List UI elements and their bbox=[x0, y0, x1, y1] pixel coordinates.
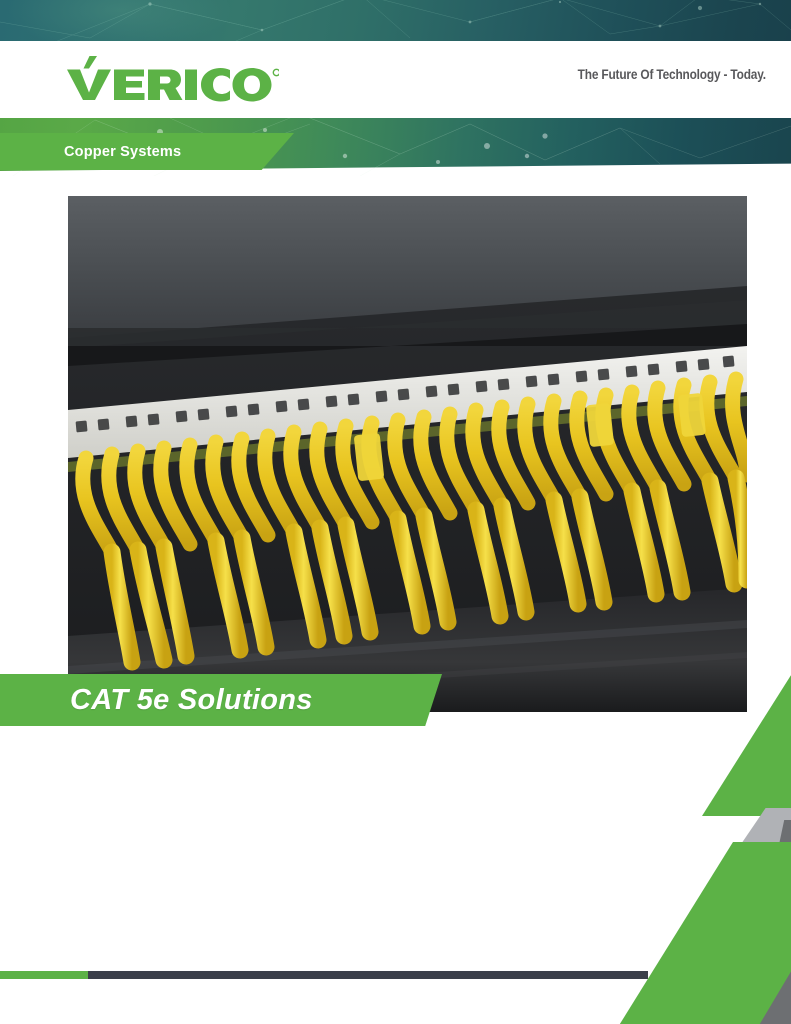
top-gradient-band bbox=[0, 0, 791, 41]
vericom-logo[interactable] bbox=[64, 55, 279, 103]
network-pattern-icon bbox=[0, 0, 791, 41]
footer-rule-dark bbox=[88, 971, 648, 979]
brand-tagline: The Future Of Technology - Today. bbox=[578, 67, 766, 82]
category-banner-label: Copper Systems bbox=[64, 144, 181, 160]
patch-panel-photo-icon bbox=[68, 196, 747, 712]
logo-strip: The Future Of Technology - Today. bbox=[0, 41, 791, 118]
page-title: CAT 5e Solutions bbox=[70, 684, 313, 717]
brochure-cover-page: The Future Of Technology - Today. bbox=[0, 0, 791, 1024]
decorative-parallelogram-green bbox=[618, 842, 791, 1024]
vericom-wordmark-icon bbox=[64, 55, 279, 103]
page-title-band: CAT 5e Solutions bbox=[0, 674, 442, 726]
footer-rule-green bbox=[0, 971, 90, 979]
category-banner[interactable]: Copper Systems bbox=[0, 133, 294, 170]
hero-image bbox=[68, 196, 747, 712]
